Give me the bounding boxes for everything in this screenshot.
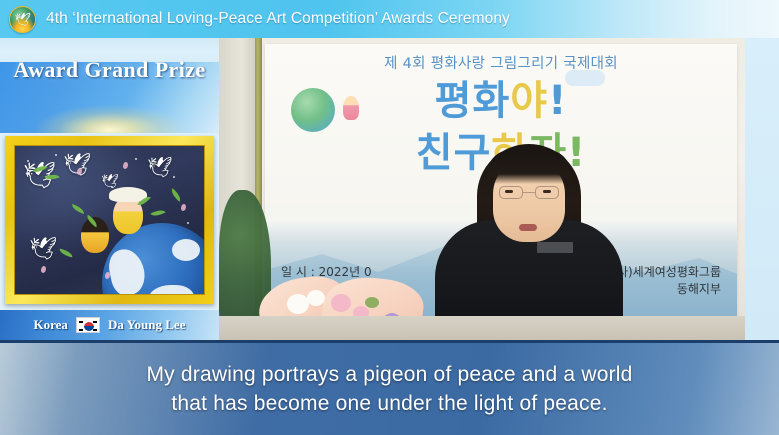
hair-fringe <box>487 150 571 184</box>
subtitle-line-1: My drawing portrays a pigeon of peace an… <box>146 360 632 389</box>
floor-strip <box>219 316 745 340</box>
light-burst-glow <box>35 105 185 133</box>
dove-icon: 🕊 <box>29 238 57 260</box>
banner-headline-line1: 평화야! <box>265 76 737 126</box>
banner-info-right: 사)세계여성평화그룹 동해지부 <box>617 264 721 298</box>
header-bar: 🕊 4th ‘International Loving-Peace Art Co… <box>0 0 779 38</box>
right-backdrop <box>745 38 779 340</box>
award-panel: Award Grand Prize 🕊 🕊 <box>0 38 219 340</box>
winner-name-plate: Korea Da Young Lee <box>0 310 219 340</box>
banner-org-branch: 동해지부 <box>617 281 721 298</box>
eye-right <box>543 190 551 193</box>
video-feed: 제 4회 평화사랑 그림그리기 국제대회 평화야! 친구하자! 일 시 : 20… <box>219 38 745 340</box>
mouth <box>519 224 537 231</box>
peace-dove-globe-icon: 🕊 <box>9 6 36 33</box>
page-title: 4th ‘International Loving-Peace Art Comp… <box>46 10 510 28</box>
eye-left <box>505 190 513 193</box>
artwork-frame: 🕊 🕊 🕊 🕊 🕊 <box>5 136 214 304</box>
south-korea-flag-icon <box>76 317 100 333</box>
award-title: Award Grand Prize <box>0 57 219 83</box>
broadcast-stage: 🕊 4th ‘International Loving-Peace Art Co… <box>0 0 779 435</box>
dove-icon: 🕊 <box>101 174 119 188</box>
sweatshirt-logo <box>537 242 573 253</box>
subtitle-line-2: that has become one under the light of p… <box>171 389 607 418</box>
winner-name: Da Young Lee <box>108 317 186 333</box>
banner-org-name: 사)세계여성평화그룹 <box>617 264 721 281</box>
dove-glyph: 🕊 <box>14 13 32 26</box>
artwork-image: 🕊 🕊 🕊 🕊 🕊 <box>14 145 205 295</box>
winner-country: Korea <box>34 317 68 333</box>
dove-icon: 🕊 <box>147 158 172 178</box>
banner-subtitle: 제 4회 평화사랑 그림그리기 국제대회 <box>265 52 737 73</box>
subtitle-bar: My drawing portrays a pigeon of peace an… <box>0 340 779 435</box>
glasses-icon <box>499 186 559 200</box>
speaker-person <box>429 138 629 338</box>
globe-shape <box>102 223 205 295</box>
